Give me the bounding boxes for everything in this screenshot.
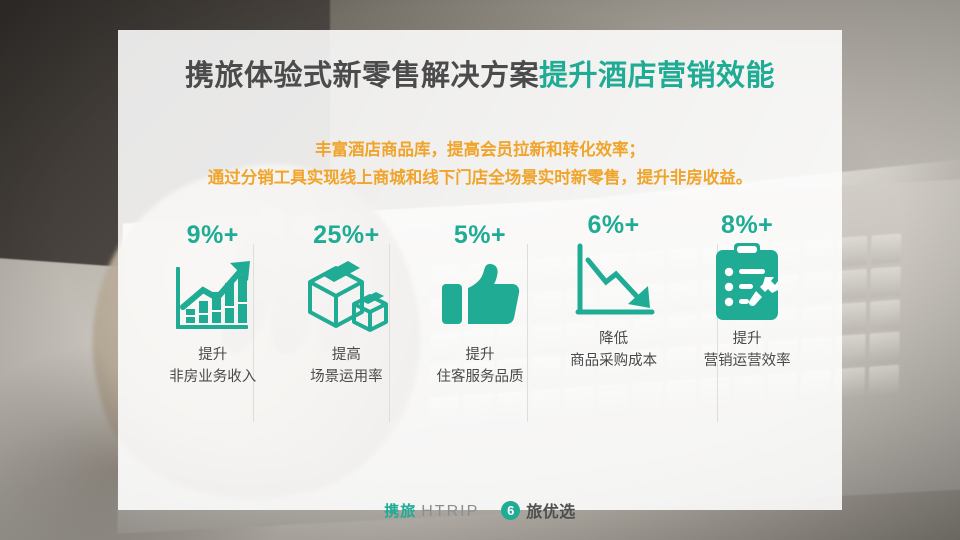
- page-title: 携旅体验式新零售解决方案提升酒店营销效能: [118, 58, 842, 94]
- stat-labels: 提升 营销运营效率: [680, 328, 814, 373]
- title-block: 携旅体验式新零售解决方案提升酒店营销效能: [118, 58, 842, 94]
- growth-bar-chart-arrow-icon: [146, 252, 280, 344]
- stat-item: 8%+: [680, 218, 814, 389]
- stat-label-line-2: 商品采购成本: [547, 350, 681, 372]
- stat-percent: 5%+: [413, 218, 547, 252]
- declining-line-chart-arrow-icon: [547, 236, 681, 328]
- thumbs-up-icon: [413, 252, 547, 344]
- logo-lvyouxuan: 6 旅优选: [501, 498, 576, 522]
- footer-logos: 携旅 HTRIP 6 旅优选: [118, 498, 842, 522]
- logo-htrip-cn: 携旅: [384, 500, 416, 521]
- stat-labels: 降低 商品采购成本: [547, 328, 681, 373]
- stat-item: 25%+: [280, 218, 414, 389]
- stat-item: 6%+ 降低 商品采购成本: [547, 218, 681, 389]
- page-title-highlight: 提升酒店营销效能: [539, 60, 775, 92]
- subtitle-line-1: 丰富酒店商品库，提高会员拉新和转化效率；: [118, 136, 842, 164]
- clipboard-wrench-icon: [680, 236, 814, 328]
- stat-labels: 提升 非房业务收入: [146, 344, 280, 389]
- slide-canvas: 携旅体验式新零售解决方案提升酒店营销效能 丰富酒店商品库，提高会员拉新和转化效率…: [0, 0, 960, 540]
- stat-label-line-2: 场景运用率: [280, 366, 414, 388]
- logo-lvyouxuan-mark: 6: [501, 501, 520, 520]
- stat-label-line-1: 提升: [413, 344, 547, 366]
- package-boxes-icon: [280, 252, 414, 344]
- subtitle-block: 丰富酒店商品库，提高会员拉新和转化效率； 通过分销工具实现线上商城和线下门店全场…: [118, 136, 842, 193]
- stats-row: 9%+: [118, 218, 842, 389]
- stat-item: 5%+ 提升 住客服务品质: [413, 218, 547, 389]
- stat-label-line-2: 营销运营效率: [680, 350, 814, 372]
- stat-label-line-2: 住客服务品质: [413, 366, 547, 388]
- logo-htrip-en: HTRIP: [421, 503, 479, 521]
- stat-label-line-1: 提高: [280, 344, 414, 366]
- logo-lvyouxuan-name: 旅优选: [526, 498, 576, 522]
- subtitle-line-2: 通过分销工具实现线上商城和线下门店全场景实时新零售，提升非房收益。: [118, 164, 842, 192]
- stat-label-line-1: 提升: [680, 328, 814, 350]
- stat-percent: 9%+: [146, 218, 280, 252]
- stat-labels: 提升 住客服务品质: [413, 344, 547, 389]
- stat-label-line-2: 非房业务收入: [146, 366, 280, 388]
- stat-item: 9%+: [146, 218, 280, 389]
- page-title-plain: 携旅体验式新零售解决方案: [185, 60, 539, 92]
- stat-label-line-1: 降低: [547, 328, 681, 350]
- logo-htrip: 携旅 HTRIP: [384, 500, 479, 521]
- stat-percent: 25%+: [280, 218, 414, 252]
- stat-labels: 提高 场景运用率: [280, 344, 414, 389]
- stat-label-line-1: 提升: [146, 344, 280, 366]
